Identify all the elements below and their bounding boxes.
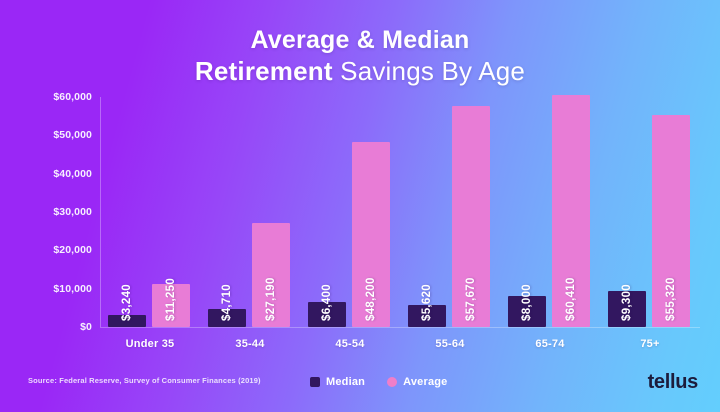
bar-group: $9,300$55,320 [600, 97, 700, 327]
bar-value-label: $57,670 [465, 277, 477, 321]
x-axis-tick: 45-54 [300, 338, 400, 350]
legend-average-swatch-icon [387, 377, 397, 387]
bar-average[interactable]: $27,190 [252, 223, 290, 327]
x-axis-tick: 55-64 [400, 338, 500, 350]
y-axis-tick: $30,000 [12, 206, 92, 218]
title-emphasis: Retirement [195, 56, 333, 86]
chart-legend: Median Average [310, 376, 448, 388]
bar-value-label: $8,000 [521, 284, 533, 321]
bar-average[interactable]: $60,410 [552, 95, 590, 327]
bar-value-label: $4,710 [221, 284, 233, 321]
y-axis-tick: $50,000 [12, 129, 92, 141]
bar-average[interactable]: $57,670 [452, 106, 490, 327]
bar-median[interactable]: $3,240 [108, 315, 146, 327]
bar-group: $3,240$11,250 [100, 97, 200, 327]
bar-median[interactable]: $8,000 [508, 296, 546, 327]
bar-value-label: $11,250 [165, 278, 177, 321]
x-axis-tick: 75+ [600, 338, 700, 350]
legend-median-label: Median [326, 376, 365, 388]
y-axis-tick: $40,000 [12, 168, 92, 180]
bar-group: $8,000$60,410 [500, 97, 600, 327]
legend-item-median[interactable]: Median [310, 376, 365, 388]
title-line-2: Retirement Savings By Age [0, 55, 720, 87]
source-note: Source: Federal Reserve, Survey of Consu… [28, 376, 261, 385]
bar-group: $6,400$48,200 [300, 97, 400, 327]
bar-value-label: $60,410 [565, 277, 577, 321]
bar-average[interactable]: $55,320 [652, 115, 690, 327]
x-axis-baseline [100, 327, 700, 328]
bar-median[interactable]: $9,300 [608, 291, 646, 327]
bar-group: $4,710$27,190 [200, 97, 300, 327]
y-axis-tick: $20,000 [12, 244, 92, 256]
y-axis-tick: $60,000 [12, 91, 92, 103]
brand-logo: tellus [648, 371, 698, 394]
y-axis-tick: $0 [12, 321, 92, 333]
bar-median[interactable]: $5,620 [408, 305, 446, 327]
infographic-canvas: Average & Median Retirement Savings By A… [0, 0, 720, 412]
bar-group: $5,620$57,670 [400, 97, 500, 327]
x-axis-tick: Under 35 [100, 338, 200, 350]
bar-median[interactable]: $6,400 [308, 302, 346, 327]
bar-value-label: $27,190 [265, 277, 277, 321]
title-line-1: Average & Median [0, 25, 720, 55]
bar-value-label: $6,400 [321, 284, 333, 321]
bar-median[interactable]: $4,710 [208, 309, 246, 327]
bar-value-label: $9,300 [621, 284, 633, 321]
bar-average[interactable]: $48,200 [352, 142, 390, 327]
legend-median-swatch-icon [310, 377, 320, 387]
x-axis-tick: 65-74 [500, 338, 600, 350]
chart-plot-area: $3,240$11,250$4,710$27,190$6,400$48,200$… [100, 97, 700, 327]
y-axis-tick: $10,000 [12, 283, 92, 295]
x-axis-tick: 35-44 [200, 338, 300, 350]
bar-value-label: $5,620 [421, 284, 433, 321]
title-remainder: Savings By Age [333, 56, 525, 86]
legend-item-average[interactable]: Average [387, 376, 447, 388]
bar-value-label: $3,240 [121, 284, 133, 321]
bar-value-label: $55,320 [665, 277, 677, 321]
bar-average[interactable]: $11,250 [152, 284, 190, 327]
page-title: Average & Median Retirement Savings By A… [0, 25, 720, 87]
bar-value-label: $48,200 [365, 277, 377, 321]
legend-average-label: Average [403, 376, 447, 388]
